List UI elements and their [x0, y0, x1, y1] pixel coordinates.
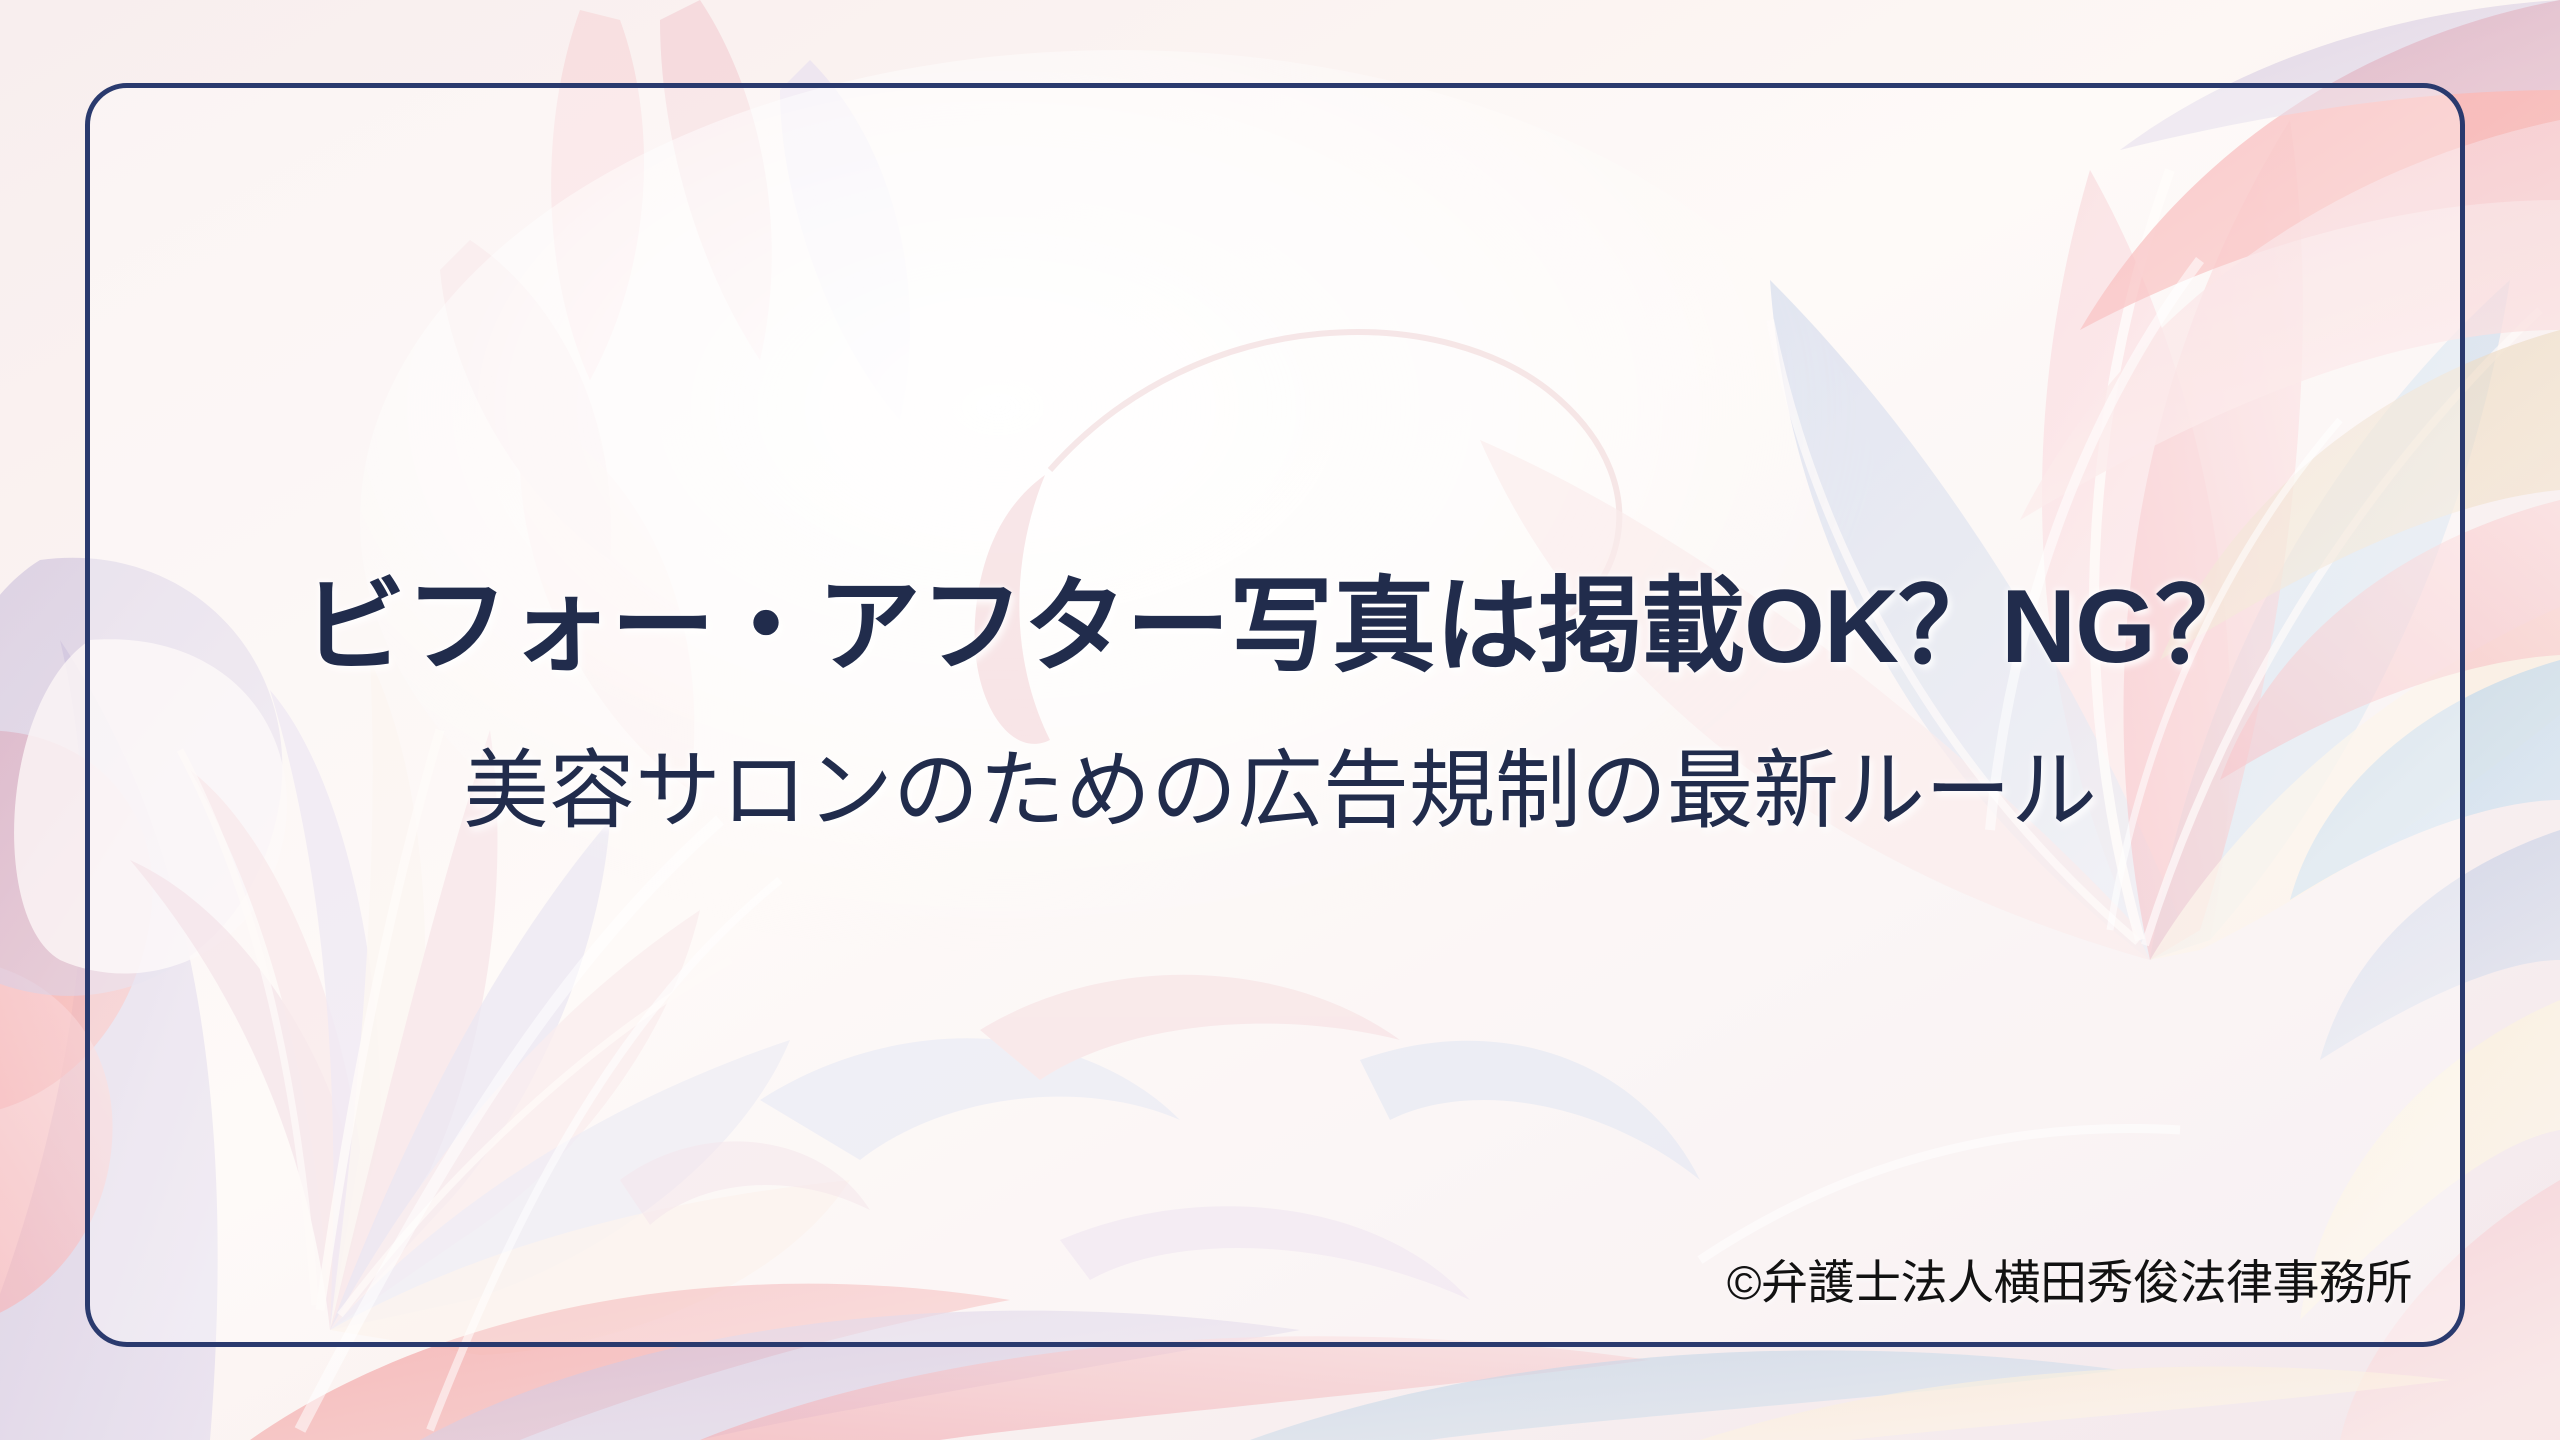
decorative-floral-background	[0, 0, 2560, 1440]
banner-canvas: ビフォー・アフター写真は掲載OK？NG？ 美容サロンのための広告規制の最新ルール…	[0, 0, 2560, 1440]
